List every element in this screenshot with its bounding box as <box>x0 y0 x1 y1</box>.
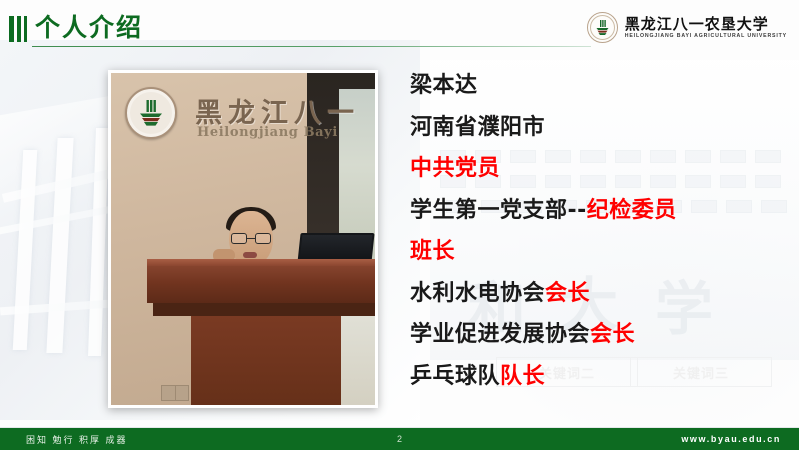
info-line-party: 中共党员 <box>410 157 790 181</box>
info-highlight: 纪检委员 <box>587 198 677 223</box>
university-name-en: HEILONGJIANG BAYI AGRICULTURAL UNIVERSIT… <box>625 33 787 40</box>
info-text: 乒乓球队 <box>410 364 500 389</box>
info-text: 中共党员 <box>410 156 500 181</box>
info-highlight: 队长 <box>500 364 545 389</box>
wall-sign-en: Heilongjiang Bayi <box>197 125 338 140</box>
glasses-icon <box>231 233 271 244</box>
green-bars-icon <box>9 16 27 42</box>
info-text: 学生第一党支部-- <box>410 198 587 223</box>
info-line-hydro-assoc: 水利水电协会会长 <box>410 282 790 306</box>
university-name-cn: 黑龙江八一农垦大学 <box>625 16 787 32</box>
info-text: 河南省濮阳市 <box>410 115 545 140</box>
info-text: 班长 <box>410 239 455 264</box>
info-text: 水利水电协会 <box>410 281 545 306</box>
info-line-branch: 学生第一党支部--纪检委员 <box>410 199 790 223</box>
info-highlight: 会长 <box>545 281 590 306</box>
footer-url[interactable]: www.byau.edu.cn <box>681 434 781 444</box>
page-title: 个人介绍 <box>35 12 143 44</box>
info-text: 学业促进发展协会 <box>410 322 590 347</box>
info-list: 梁本达 河南省濮阳市 中共党员 学生第一党支部--纪检委员 班长 水利水电协会会… <box>410 74 790 406</box>
info-line-pingpong: 乒乓球队队长 <box>410 365 790 389</box>
title-underline <box>32 46 591 47</box>
info-line-monitor: 班长 <box>410 240 790 264</box>
speaker-photo: 黑龙江八一 Heilongjiang Bayi <box>108 70 378 408</box>
info-text: 梁本达 <box>410 73 478 98</box>
info-line-name: 梁本达 <box>410 74 790 98</box>
info-highlight: 会长 <box>590 322 635 347</box>
info-line-academic-assoc: 学业促进发展协会会长 <box>410 323 790 347</box>
info-line-hometown: 河南省濮阳市 <box>410 116 790 140</box>
university-crest-icon <box>125 87 177 139</box>
page-number: 2 <box>0 434 799 444</box>
slide-footer: 困知 勉行 积厚 成器 2 www.byau.edu.cn <box>0 428 799 450</box>
university-emblem-icon <box>587 12 618 43</box>
podium <box>147 259 375 405</box>
slide-header: 个人介绍 黑龙江八一农垦大学 HEILONGJIANG BAYI AGRICUL… <box>0 0 799 56</box>
slide-root: 和 大 学 关键词二 关键词三 个人介绍 <box>0 0 799 450</box>
university-logo: 黑龙江八一农垦大学 HEILONGJIANG BAYI AGRICULTURAL… <box>587 12 787 43</box>
